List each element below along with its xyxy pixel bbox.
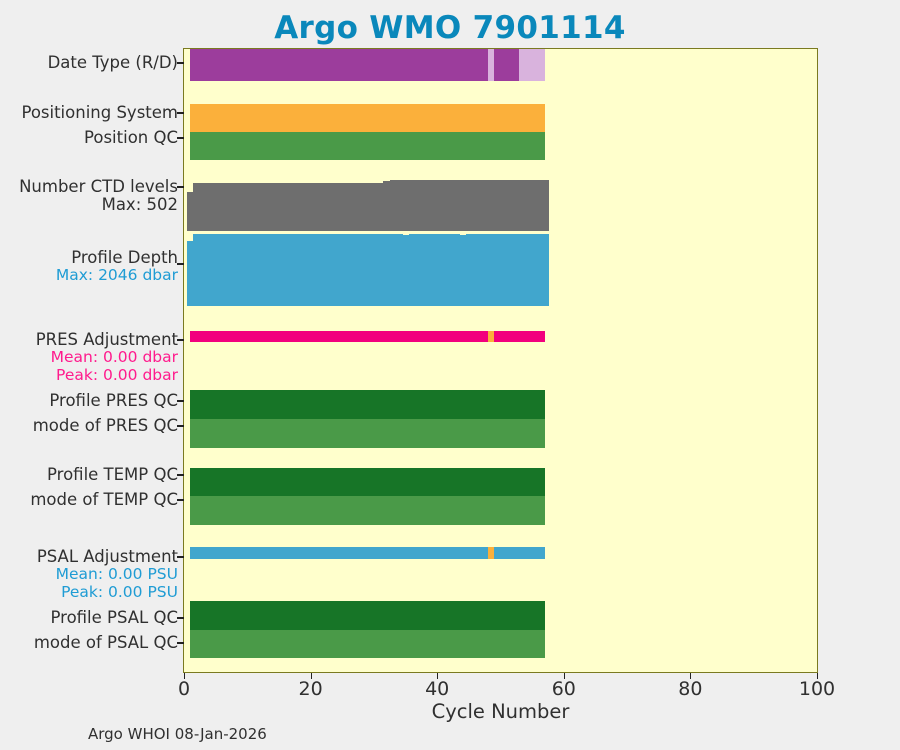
x-axis-tick-label: 100 [799,678,835,700]
series-segment [494,49,519,81]
page-title: Argo WMO 7901114 [0,10,900,46]
y-axis-label-group: Profile PRES QC [0,392,178,410]
y-axis-label-group: Profile TEMP QC [0,466,178,484]
plot-area[interactable] [183,48,818,673]
y-axis-tick [177,617,184,619]
series-segment [494,547,545,559]
series-segment [190,390,544,419]
y-axis-label: mode of PSAL QC [0,634,178,652]
y-axis-label: PSAL Adjustment [0,548,178,566]
x-axis-tick-labels: 020406080100 [183,678,818,702]
y-axis-label: Max: 2046 dbar [0,267,178,284]
y-axis-label: mode of PRES QC [0,417,178,435]
series-segment [190,104,544,132]
y-axis-label-group: PSAL AdjustmentMean: 0.00 PSUPeak: 0.00 … [0,548,178,601]
footer-credit: Argo WHOI 08-Jan-2026 [88,725,267,743]
y-axis-label: Profile TEMP QC [0,466,178,484]
y-axis-label: mode of TEMP QC [0,491,178,509]
y-axis-label: Positioning System [0,104,178,122]
series-segment [190,419,544,448]
x-axis-tick-label: 0 [178,678,190,700]
y-axis-label: Profile PSAL QC [0,609,178,627]
y-axis-label-group: PRES AdjustmentMean: 0.00 dbarPeak: 0.00… [0,331,178,384]
y-axis-tick [177,112,184,114]
plot-series-container [184,49,817,672]
y-axis-label: Mean: 0.00 dbar [0,349,178,366]
y-axis-tick [177,186,184,188]
y-axis-tick [177,400,184,402]
series-segment [190,547,488,559]
series-segment [190,601,544,630]
x-axis-tick-label: 60 [552,678,576,700]
series-segment [190,331,488,343]
y-axis-tick [177,62,184,64]
y-axis-label: Profile PRES QC [0,392,178,410]
series-segment [494,331,545,343]
y-axis-label: Max: 502 [0,196,178,214]
series-bar [542,180,549,231]
y-axis-tick [177,556,184,558]
y-axis-tick [177,499,184,501]
x-axis-tick-label: 20 [299,678,323,700]
x-axis-tick-label: 80 [678,678,702,700]
y-axis-tick [177,137,184,139]
y-axis-tick [177,425,184,427]
series-segment [519,49,544,81]
y-axis-label: Mean: 0.00 PSU [0,566,178,583]
y-axis-label: Position QC [0,129,178,147]
series-segment [190,49,488,81]
y-axis-label: Peak: 0.00 PSU [0,584,178,601]
y-axis-tick [177,263,184,265]
y-axis-label-group: mode of PRES QC [0,417,178,435]
y-axis-label-group: Date Type (R/D) [0,54,178,72]
y-axis-label: PRES Adjustment [0,331,178,349]
series-segment [190,630,544,659]
y-axis-tick [177,642,184,644]
y-axis-label: Peak: 0.00 dbar [0,367,178,384]
y-axis-label: Date Type (R/D) [0,54,178,72]
y-axis-label-group: Number CTD levelsMax: 502 [0,178,178,215]
y-axis-label-group: Profile PSAL QC [0,609,178,627]
y-axis-tick [177,474,184,476]
y-axis-label-group: Profile DepthMax: 2046 dbar [0,249,178,285]
y-axis-label: Profile Depth [0,249,178,267]
series-segment [190,496,544,525]
y-axis-label-group: Positioning System [0,104,178,122]
x-axis-tick-label: 40 [425,678,449,700]
series-segment [190,468,544,497]
y-axis-label-group: mode of TEMP QC [0,491,178,509]
y-axis-label: Number CTD levels [0,178,178,196]
y-axis-label-column: Date Type (R/D)Positioning SystemPositio… [0,48,178,673]
y-axis-tick [177,339,184,341]
series-bar [542,234,549,306]
series-segment [190,132,544,160]
y-axis-label-group: Position QC [0,129,178,147]
y-axis-label-group: mode of PSAL QC [0,634,178,652]
x-axis-title: Cycle Number [183,700,818,723]
